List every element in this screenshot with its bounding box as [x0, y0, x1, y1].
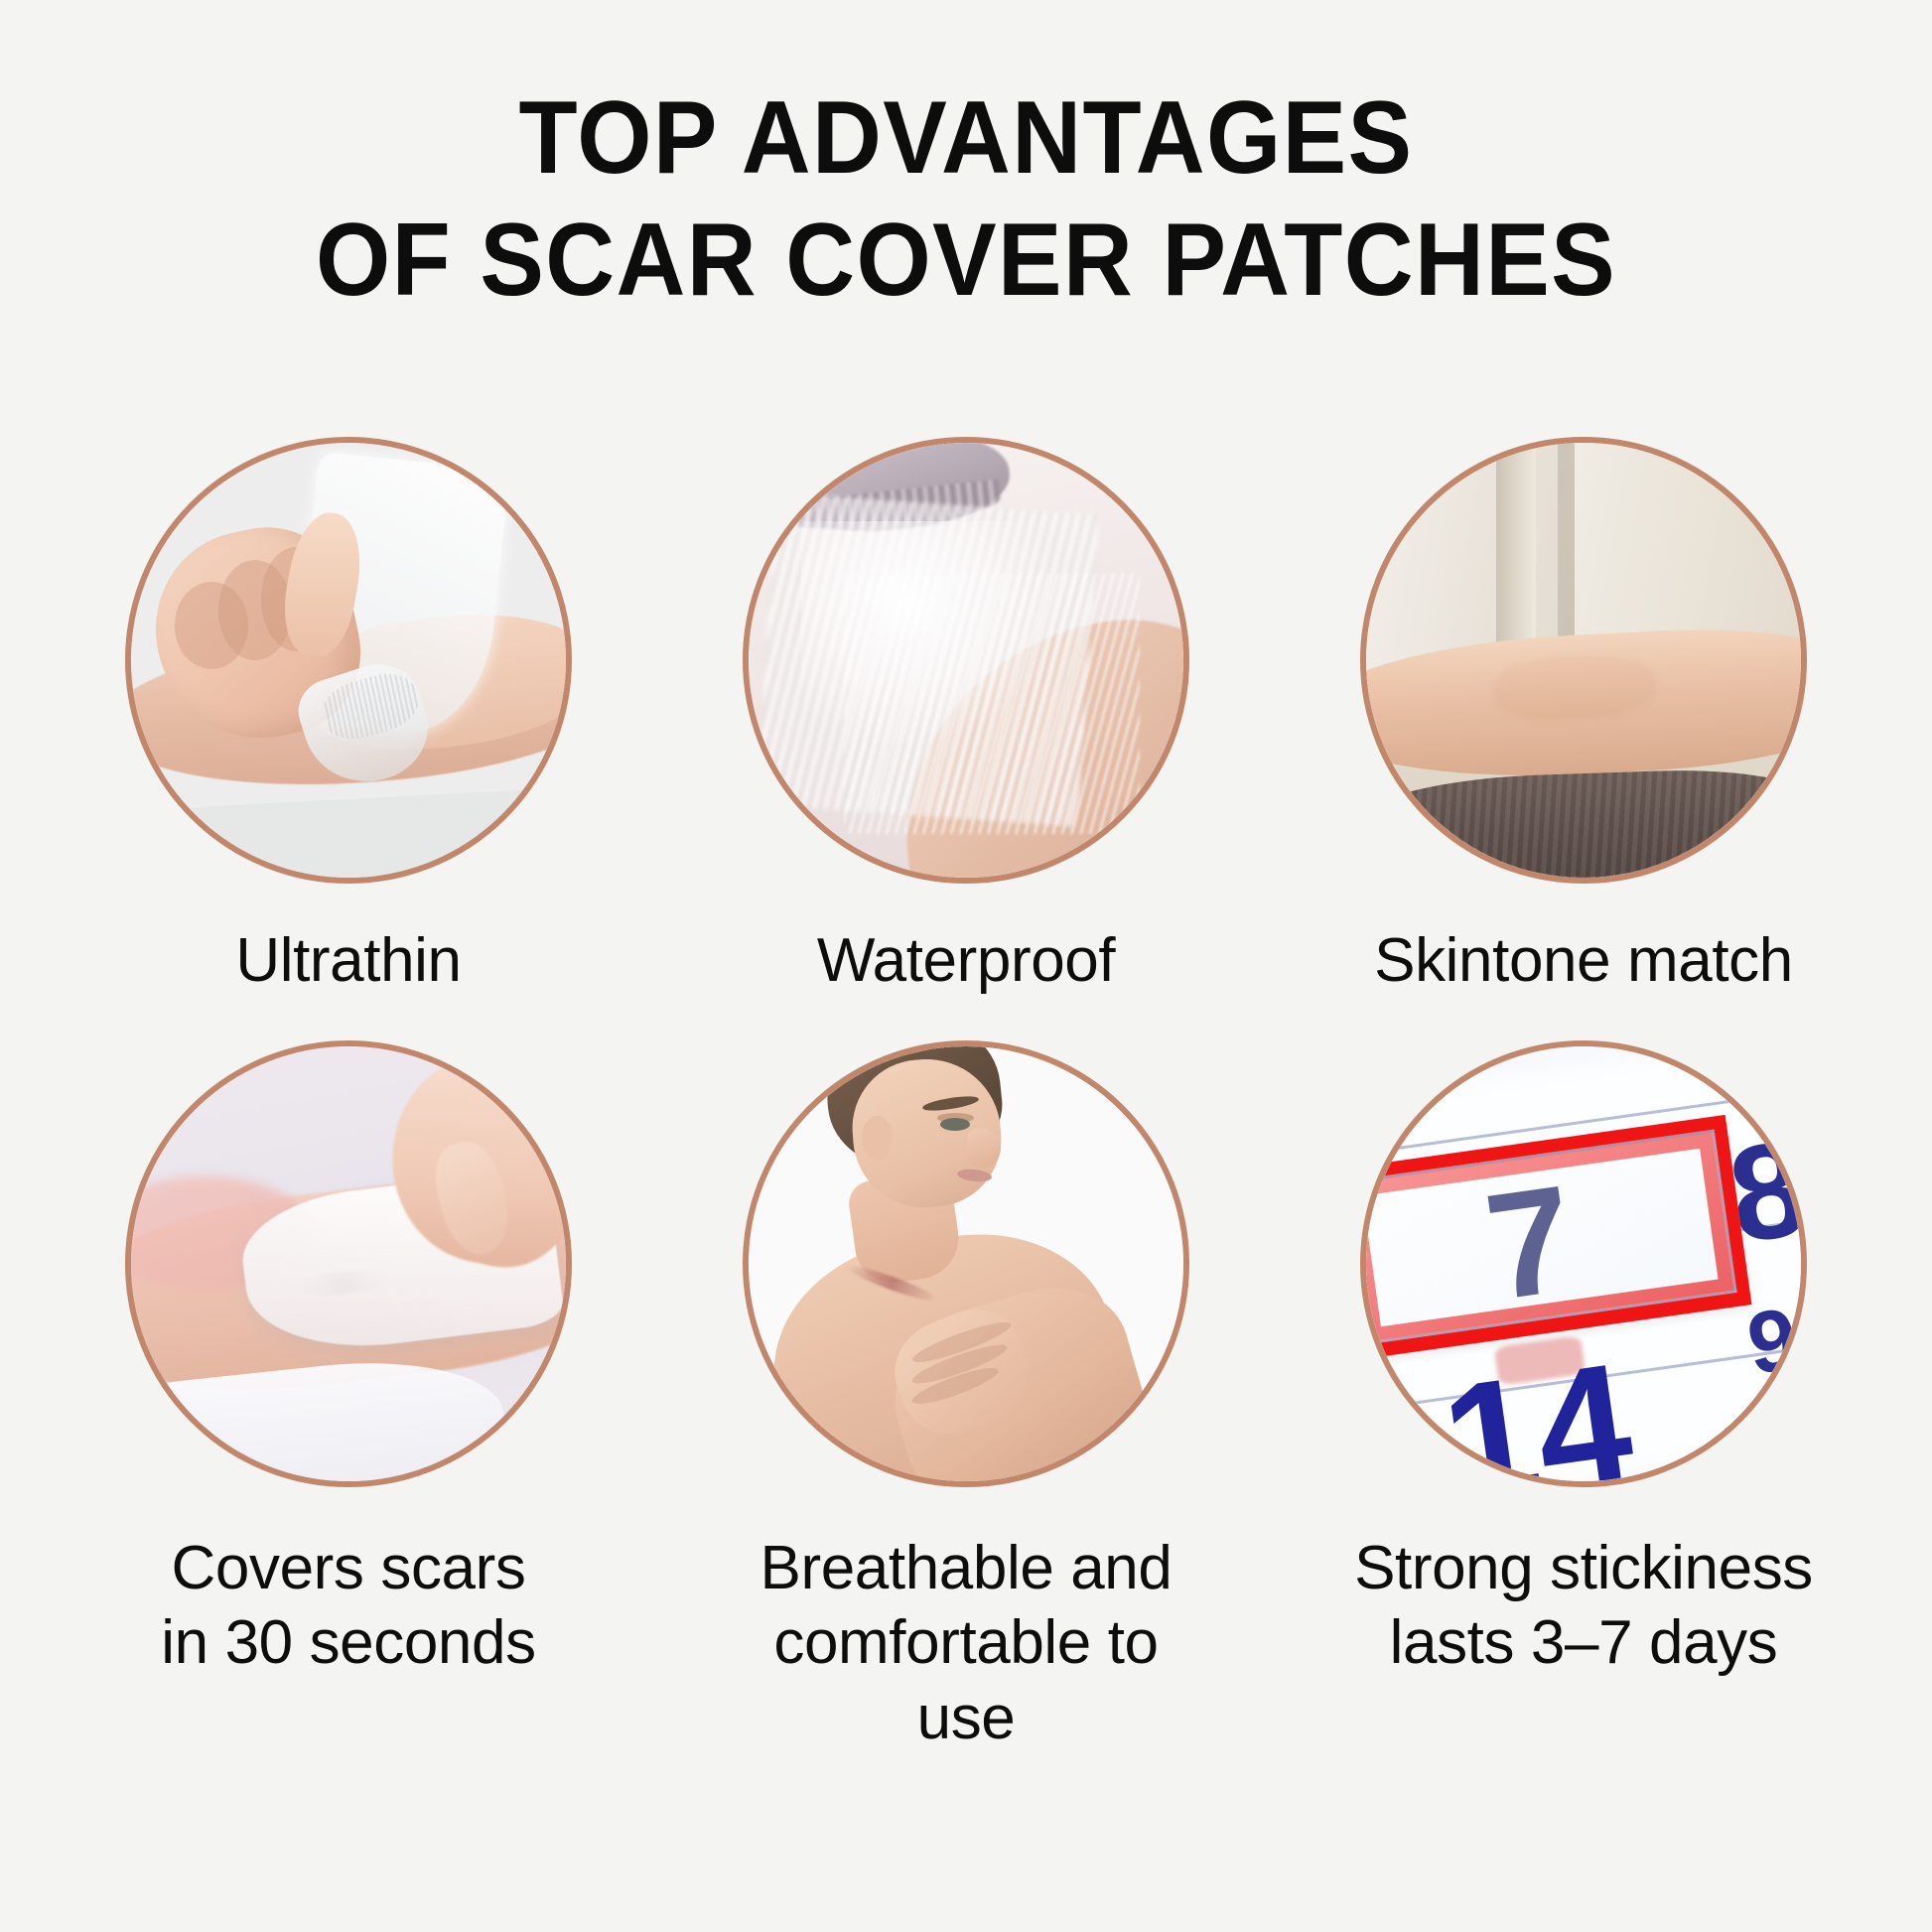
feature-image-skintone-match: [1360, 437, 1807, 884]
peeling-backing-sheet-from-arm-icon: [131, 1046, 566, 1481]
feature-image-covers-scars: [125, 1040, 572, 1487]
hand-peeling-patch-on-forearm-icon: [131, 443, 566, 878]
feature-image-strong-stickiness: 8 9 7 14: [1360, 1040, 1807, 1487]
arm-with-skintone-patch-on-towel-icon: [1366, 443, 1801, 878]
feature-card-ultrathin: Ultrathin: [40, 437, 657, 999]
feature-card-waterproof: Waterproof: [657, 437, 1275, 999]
feature-label-covers-scars: Covers scars in 30 seconds: [161, 1531, 535, 1681]
feature-label-breathable: Breathable and comfortable to use: [760, 1531, 1173, 1756]
calendar-number-14: 14: [1434, 1336, 1640, 1480]
title-line-1: TOP ADVANTAGES: [68, 77, 1864, 200]
features-grid: Ultrathin Waterproof: [40, 437, 1892, 1756]
feature-image-waterproof: [743, 437, 1189, 884]
feature-card-breathable: Breathable and comfortable to use: [657, 1040, 1275, 1756]
feature-card-strong-stickiness: 8 9 7 14 Strong stickiness lasts 3–7 day…: [1275, 1040, 1892, 1756]
shower-head-water-on-shoulder-icon: [749, 443, 1183, 878]
feature-image-ultrathin: [125, 437, 572, 884]
feature-card-skintone-match: Skintone match: [1275, 437, 1892, 999]
infographic-page: TOP ADVANTAGES OF SCAR COVER PATCHES: [0, 0, 1932, 1932]
feature-label-strong-stickiness: Strong stickiness lasts 3–7 days: [1354, 1531, 1813, 1681]
calendar-days-with-red-frame-icon: 8 9 7 14: [1366, 1046, 1801, 1481]
feature-label-skintone-match: Skintone match: [1374, 923, 1793, 999]
woman-holding-shoulder-with-scar-icon: [749, 1046, 1183, 1481]
feature-card-covers-scars: Covers scars in 30 seconds: [40, 1040, 657, 1756]
title-line-2: OF SCAR COVER PATCHES: [68, 200, 1864, 322]
feature-image-breathable: [743, 1040, 1189, 1487]
feature-label-ultrathin: Ultrathin: [235, 923, 461, 999]
page-title: TOP ADVANTAGES OF SCAR COVER PATCHES: [0, 77, 1932, 321]
feature-label-waterproof: Waterproof: [817, 923, 1115, 999]
